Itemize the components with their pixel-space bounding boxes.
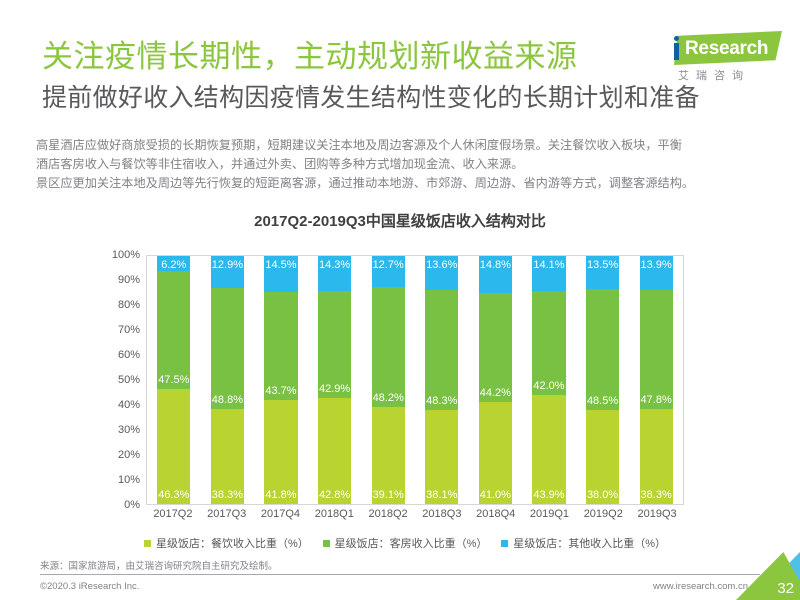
bar-value-label: 6.2% — [161, 259, 186, 271]
legend-label: 星级饭店：餐饮收入比重（%） — [156, 535, 309, 551]
bar-value-label: 47.5% — [158, 374, 189, 386]
bar-segment[interactable]: 38.1% — [425, 410, 458, 504]
bar-segment[interactable]: 41.0% — [479, 402, 512, 504]
logo-chinese-name: 艾瑞咨询 — [678, 67, 750, 83]
logo-i-stem-icon — [674, 43, 679, 60]
bar-value-label: 48.3% — [426, 395, 457, 407]
legend-item[interactable]: 星级饭店：其他收入比重（%） — [501, 535, 666, 551]
bar-value-label: 44.2% — [480, 387, 511, 399]
bar-value-label: 14.1% — [533, 259, 564, 271]
x-axis-tick: 2018Q4 — [469, 508, 523, 520]
slide: 关注疫情长期性，主动规划新收益来源 提前做好收入结构因疫情发生结构性变化的长期计… — [0, 0, 800, 600]
bar-slot: 12.9%48.8%38.3% — [201, 256, 255, 504]
bar-value-label: 41.8% — [265, 489, 296, 501]
bar-value-label: 14.3% — [319, 259, 350, 271]
bar-value-label: 42.9% — [319, 383, 350, 395]
source-note: 来源：国家旅游局，由艾瑞咨询研究院自主研究及绘制。 — [40, 558, 278, 572]
iresearch-logo: Research 艾瑞咨询 — [660, 31, 782, 87]
copyright-text: ©2020.3 iResearch Inc. — [40, 581, 139, 592]
website-link[interactable]: www.iresearch.com.cn — [653, 581, 748, 592]
corner-decoration: 32 — [736, 552, 800, 600]
chart: 100%90%80%70%60%50%40%30%20%10%0% 6.2%47… — [108, 255, 688, 505]
bar-segment[interactable]: 48.5% — [586, 289, 619, 409]
bar-value-label: 14.5% — [265, 259, 296, 271]
bar-slot: 13.5%48.5%38.0% — [576, 256, 630, 504]
bar-slot: 6.2%47.5%46.3% — [147, 256, 201, 504]
bar-slot: 14.5%43.7%41.8% — [254, 256, 308, 504]
bar-value-label: 14.8% — [480, 259, 511, 271]
stacked-bar[interactable]: 13.9%47.8%38.3% — [640, 256, 673, 504]
bar-value-label: 42.0% — [533, 380, 564, 392]
chart-legend: 星级饭店：餐饮收入比重（%）星级饭店：客房收入比重（%）星级饭店：其他收入比重（… — [108, 535, 698, 551]
y-axis-tick: 30% — [104, 424, 140, 436]
bar-segment[interactable]: 47.5% — [157, 271, 190, 389]
bar-segment[interactable]: 48.2% — [372, 287, 405, 407]
bar-slot: 13.6%48.3%38.1% — [415, 256, 469, 504]
bar-value-label: 43.9% — [533, 489, 564, 501]
bar-segment[interactable]: 43.7% — [264, 292, 297, 400]
bar-value-label: 48.8% — [212, 394, 243, 406]
legend-label: 星级饭店：客房收入比重（%） — [335, 535, 488, 551]
bar-segment[interactable]: 46.3% — [157, 389, 190, 504]
bar-segment[interactable]: 14.5% — [264, 256, 297, 292]
footer-divider — [40, 574, 760, 575]
legend-swatch-icon — [323, 540, 330, 547]
legend-label: 星级饭店：其他收入比重（%） — [513, 535, 666, 551]
bar-segment[interactable]: 39.1% — [372, 407, 405, 504]
legend-item[interactable]: 星级饭店：餐饮收入比重（%） — [144, 535, 309, 551]
bar-value-label: 46.3% — [158, 489, 189, 501]
bar-segment[interactable]: 47.8% — [640, 290, 673, 409]
bar-segment[interactable]: 14.3% — [318, 256, 351, 291]
bar-segment[interactable]: 42.8% — [318, 398, 351, 504]
y-axis-tick: 90% — [104, 274, 140, 286]
body-line: 景区应更加关注本地及周边等先行恢复的短距离客源，通过推动本地游、市郊游、周边游、… — [36, 174, 776, 193]
bar-value-label: 13.9% — [641, 259, 672, 271]
bar-segment[interactable]: 42.0% — [532, 291, 565, 395]
bar-value-label: 39.1% — [373, 489, 404, 501]
bar-value-label: 13.5% — [587, 259, 618, 271]
stacked-bar[interactable]: 12.7%48.2%39.1% — [372, 256, 405, 504]
bar-value-label: 48.5% — [587, 395, 618, 407]
stacked-bar[interactable]: 14.8%44.2%41.0% — [479, 256, 512, 504]
x-axis-tick: 2019Q3 — [630, 508, 684, 520]
bar-value-label: 12.9% — [212, 259, 243, 271]
y-axis-tick: 0% — [104, 499, 140, 511]
page-number: 32 — [777, 580, 794, 597]
bar-segment[interactable]: 13.5% — [586, 256, 619, 289]
stacked-bar[interactable]: 6.2%47.5%46.3% — [157, 256, 190, 504]
stacked-bar[interactable]: 12.9%48.8%38.3% — [211, 256, 244, 504]
bar-segment[interactable]: 13.9% — [640, 256, 673, 290]
bar-segment[interactable]: 13.6% — [425, 256, 458, 290]
x-axis-tick: 2019Q1 — [523, 508, 577, 520]
bar-segment[interactable]: 14.8% — [479, 256, 512, 293]
bar-value-label: 47.8% — [641, 394, 672, 406]
y-axis-tick: 10% — [104, 474, 140, 486]
y-axis: 100%90%80%70%60%50%40%30%20%10%0% — [108, 255, 144, 505]
x-axis-tick: 2017Q4 — [254, 508, 308, 520]
bar-value-label: 38.3% — [212, 489, 243, 501]
x-axis-tick: 2017Q2 — [146, 508, 200, 520]
bar-segment[interactable]: 48.3% — [425, 290, 458, 410]
bar-segment[interactable]: 14.1% — [532, 256, 565, 291]
bar-group: 6.2%47.5%46.3%12.9%48.8%38.3%14.5%43.7%4… — [147, 256, 683, 504]
bar-segment[interactable]: 38.3% — [211, 409, 244, 504]
stacked-bar[interactable]: 14.1%42.0%43.9% — [532, 256, 565, 504]
stacked-bar[interactable]: 14.3%42.9%42.8% — [318, 256, 351, 504]
y-axis-tick: 60% — [104, 349, 140, 361]
body-line: 高星酒店应做好商旅受损的长期恢复预期，短期建议关注本地及周边客源及个人休闲度假场… — [36, 136, 776, 155]
bar-segment[interactable]: 6.2% — [157, 256, 190, 271]
bar-value-label: 41.0% — [480, 489, 511, 501]
stacked-bar[interactable]: 13.6%48.3%38.1% — [425, 256, 458, 504]
bar-slot: 12.7%48.2%39.1% — [361, 256, 415, 504]
bar-segment[interactable]: 38.3% — [640, 409, 673, 504]
bar-slot: 13.9%47.8%38.3% — [629, 256, 683, 504]
bar-slot: 14.3%42.9%42.8% — [308, 256, 362, 504]
stacked-bar[interactable]: 14.5%43.7%41.8% — [264, 256, 297, 504]
x-axis-tick: 2018Q3 — [415, 508, 469, 520]
bar-value-label: 43.7% — [265, 385, 296, 397]
bar-segment[interactable]: 44.2% — [479, 293, 512, 403]
y-axis-tick: 80% — [104, 299, 140, 311]
bar-value-label: 48.2% — [373, 392, 404, 404]
x-axis-tick: 2019Q2 — [576, 508, 630, 520]
logo-i-dot-icon — [674, 36, 679, 41]
legend-swatch-icon — [501, 540, 508, 547]
legend-swatch-icon — [144, 540, 151, 547]
x-axis-tick: 2018Q1 — [307, 508, 361, 520]
bar-value-label: 38.3% — [641, 489, 672, 501]
y-axis-tick: 50% — [104, 374, 140, 386]
y-axis-tick: 40% — [104, 399, 140, 411]
bar-value-label: 38.0% — [587, 489, 618, 501]
bar-segment[interactable]: 12.7% — [372, 256, 405, 287]
bar-segment[interactable]: 43.9% — [532, 395, 565, 504]
stacked-bar[interactable]: 13.5%48.5%38.0% — [586, 256, 619, 504]
y-axis-tick: 100% — [104, 249, 140, 261]
bar-segment[interactable]: 38.0% — [586, 410, 619, 504]
plot-area: 6.2%47.5%46.3%12.9%48.8%38.3%14.5%43.7%4… — [146, 255, 684, 505]
bar-value-label: 42.8% — [319, 489, 350, 501]
page-title: 关注疫情长期性，主动规划新收益来源 — [42, 38, 578, 76]
y-axis-tick: 20% — [104, 449, 140, 461]
legend-item[interactable]: 星级饭店：客房收入比重（%） — [323, 535, 488, 551]
bar-segment[interactable]: 48.8% — [211, 288, 244, 409]
logo-wordmark: Research — [685, 38, 768, 59]
body-paragraph: 高星酒店应做好商旅受损的长期恢复预期，短期建议关注本地及周边客源及个人休闲度假场… — [36, 136, 776, 193]
bar-segment[interactable]: 42.9% — [318, 291, 351, 397]
bar-value-label: 38.1% — [426, 489, 457, 501]
bar-value-label: 12.7% — [373, 259, 404, 271]
bar-segment[interactable]: 41.8% — [264, 400, 297, 504]
bar-value-label: 13.6% — [426, 259, 457, 271]
x-axis: 2017Q22017Q32017Q42018Q12018Q22018Q32018… — [146, 508, 684, 520]
body-line: 酒店客房收入与餐饮等非住宿收入，并通过外卖、团购等多种方式增加现金流、收入来源。 — [36, 155, 776, 174]
bar-slot: 14.8%44.2%41.0% — [469, 256, 523, 504]
bar-segment[interactable]: 12.9% — [211, 256, 244, 288]
bar-slot: 14.1%42.0%43.9% — [522, 256, 576, 504]
page-subtitle: 提前做好收入结构因疫情发生结构性变化的长期计划和准备 — [42, 82, 700, 114]
chart-title: 2017Q2-2019Q3中国星级饭店收入结构对比 — [0, 210, 800, 231]
x-axis-tick: 2017Q3 — [200, 508, 254, 520]
x-axis-tick: 2018Q2 — [361, 508, 415, 520]
y-axis-tick: 70% — [104, 324, 140, 336]
